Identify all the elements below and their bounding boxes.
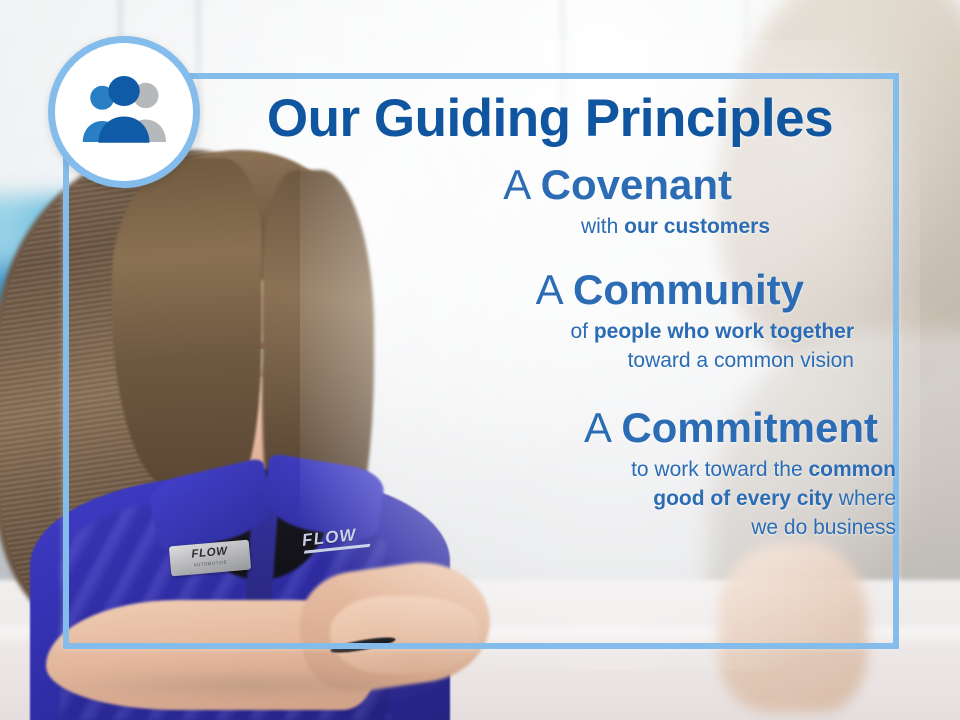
subtext-line-2: good of every city where [200, 485, 896, 514]
principle-community: A Community of people who work together … [200, 268, 900, 376]
arm-shadow [40, 672, 460, 698]
principle-article: A [536, 266, 573, 313]
principle-community-subtext: of people who work together toward a com… [200, 318, 900, 376]
subtext-line-1: to work toward the common [200, 456, 896, 485]
principle-covenant-heading: A Covenant [200, 163, 900, 207]
customer-hand [718, 542, 868, 712]
subtext-bold: people who work together [594, 320, 854, 343]
subtext-regular: of [570, 320, 593, 343]
associate-clasped-hands [330, 596, 480, 674]
subtext-regular: with [581, 215, 624, 238]
principle-article: A [584, 404, 621, 451]
subtext-line-3: we do business [200, 514, 896, 543]
subtext-bold: our customers [624, 215, 770, 238]
subtext-line-1: of people who work together [200, 318, 854, 347]
principle-commitment-subtext: to work toward the common good of every … [200, 456, 900, 543]
principle-keyword: Community [573, 266, 804, 313]
people-icon-badge [48, 36, 200, 188]
page-title: Our Guiding Principles [200, 92, 900, 145]
principle-keyword: Commitment [621, 404, 878, 451]
principle-article: A [503, 161, 540, 208]
principle-covenant-subtext: with our customers [200, 213, 900, 242]
subtext-regular: to work toward the [631, 458, 808, 481]
principle-commitment-heading: A Commitment [200, 406, 900, 450]
principle-keyword: Covenant [541, 161, 732, 208]
principle-commitment: A Commitment to work toward the common g… [200, 406, 900, 543]
subtext-bold: common [808, 458, 896, 481]
subtext-line-2: toward a common vision [200, 347, 854, 376]
principle-covenant: A Covenant with our customers [200, 163, 900, 242]
guiding-principles-graphic: FLOW AUTOMOTIVE FLOW Our Gu [0, 0, 960, 720]
subtext-bold: good of every city [653, 487, 833, 510]
subtext-regular: where [833, 487, 896, 510]
people-group-icon [76, 73, 172, 151]
principles-copy-block: Our Guiding Principles A Covenant with o… [200, 74, 900, 543]
principle-community-heading: A Community [200, 268, 900, 312]
